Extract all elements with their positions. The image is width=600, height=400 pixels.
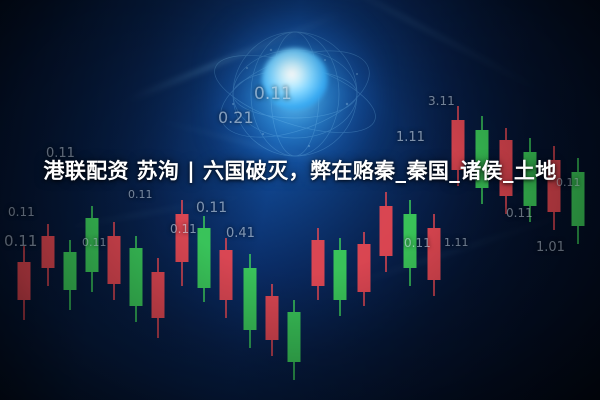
headline-container: 港联配资 苏洵 | 六国破灭，弊在赂秦_秦国_诸侯_土地 [0, 155, 600, 188]
vignette-overlay [0, 0, 600, 400]
page-title: 港联配资 苏洵 | 六国破灭，弊在赂秦_秦国_诸侯_土地 [43, 155, 556, 188]
banner-image: 0.110.110.110.110.110.110.110.210.110.41… [0, 0, 600, 400]
